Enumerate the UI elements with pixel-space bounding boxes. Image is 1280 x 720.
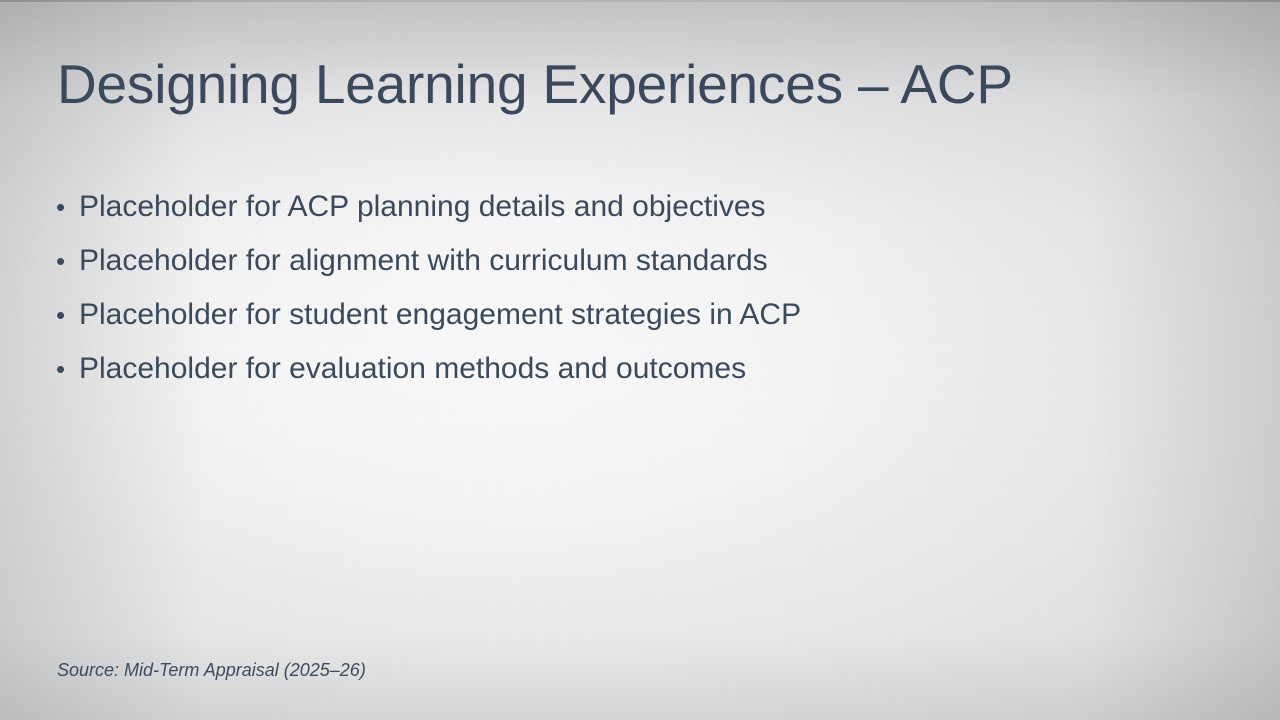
bullet-item-label: Placeholder for alignment with curriculu… (79, 243, 1156, 279)
bullet-list-item: • Placeholder for ACP planning details a… (56, 189, 1156, 243)
bullet-point-icon: • (56, 243, 79, 279)
bullet-list: • Placeholder for ACP planning details a… (56, 189, 1156, 405)
bullet-item-label: Placeholder for ACP planning details and… (79, 189, 1156, 225)
bullet-point-icon: • (56, 351, 79, 387)
slide-content: Designing Learning Experiences – ACP • P… (0, 0, 1280, 720)
slide-title: Designing Learning Experiences – ACP (57, 54, 1013, 115)
presentation-slide: Designing Learning Experiences – ACP • P… (0, 0, 1280, 720)
bullet-item-label: Placeholder for student engagement strat… (79, 297, 1156, 333)
bullet-list-item: • Placeholder for evaluation methods and… (56, 351, 1156, 405)
source-citation: Source: Mid-Term Appraisal (2025–26) (57, 658, 366, 682)
bullet-item-label: Placeholder for evaluation methods and o… (79, 351, 1156, 387)
bullet-point-icon: • (56, 189, 79, 225)
bullet-list-item: • Placeholder for alignment with curricu… (56, 243, 1156, 297)
bullet-list-item: • Placeholder for student engagement str… (56, 297, 1156, 351)
bullet-point-icon: • (56, 297, 79, 333)
